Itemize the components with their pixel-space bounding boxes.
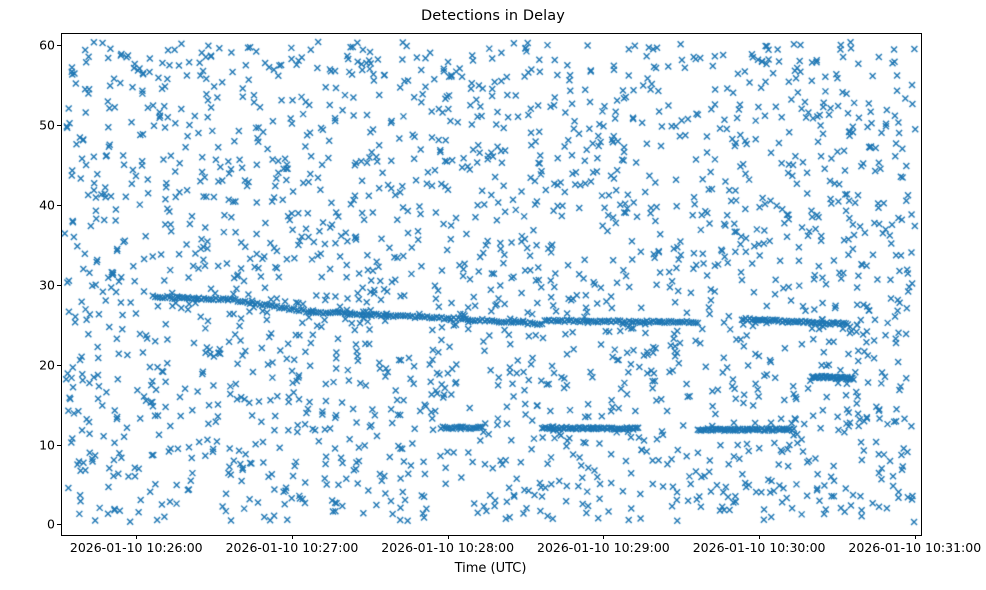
- x-axis-tick-label: 2026-01-10 10:27:00: [226, 540, 359, 555]
- y-axis-tick-mark: [57, 125, 61, 126]
- y-axis-tick-mark: [57, 445, 61, 446]
- x-axis-tick-mark: [448, 535, 449, 539]
- x-axis-tick-mark: [136, 535, 137, 539]
- y-axis-tick-label: 60: [13, 37, 55, 52]
- y-axis-tick-label: 50: [13, 117, 55, 132]
- x-axis-tick-mark: [292, 535, 293, 539]
- y-axis-tick-label: 0: [13, 517, 55, 532]
- y-axis-tick-label: 40: [13, 197, 55, 212]
- page-title: Detections in Delay: [0, 8, 986, 24]
- plot-area[interactable]: [61, 33, 922, 536]
- figure-canvas: Detections in Delay Bistatic Delay (km) …: [0, 0, 986, 590]
- x-axis-tick-label: 2026-01-10 10:28:00: [381, 540, 514, 555]
- x-axis-tick-mark: [759, 535, 760, 539]
- x-axis-tick-label: 2026-01-10 10:30:00: [693, 540, 826, 555]
- x-axis-label: Time (UTC): [61, 561, 920, 576]
- y-axis-tick-label: 30: [13, 277, 55, 292]
- x-axis-tick-label: 2026-01-10 10:26:00: [70, 540, 203, 555]
- x-axis-tick-mark: [603, 535, 604, 539]
- y-axis-tick-label: 10: [13, 437, 55, 452]
- y-axis-tick-mark: [57, 285, 61, 286]
- y-axis-tick-mark: [57, 365, 61, 366]
- x-axis-tick-label: 2026-01-10 10:29:00: [537, 540, 670, 555]
- x-axis-tick-label: 2026-01-10 10:31:00: [848, 540, 981, 555]
- y-axis-tick-label: 20: [13, 357, 55, 372]
- scatter-series-detections: [62, 34, 921, 535]
- y-axis-tick-mark: [57, 45, 61, 46]
- y-axis-tick-mark: [57, 524, 61, 525]
- x-axis-tick-mark: [915, 535, 916, 539]
- y-axis-tick-mark: [57, 205, 61, 206]
